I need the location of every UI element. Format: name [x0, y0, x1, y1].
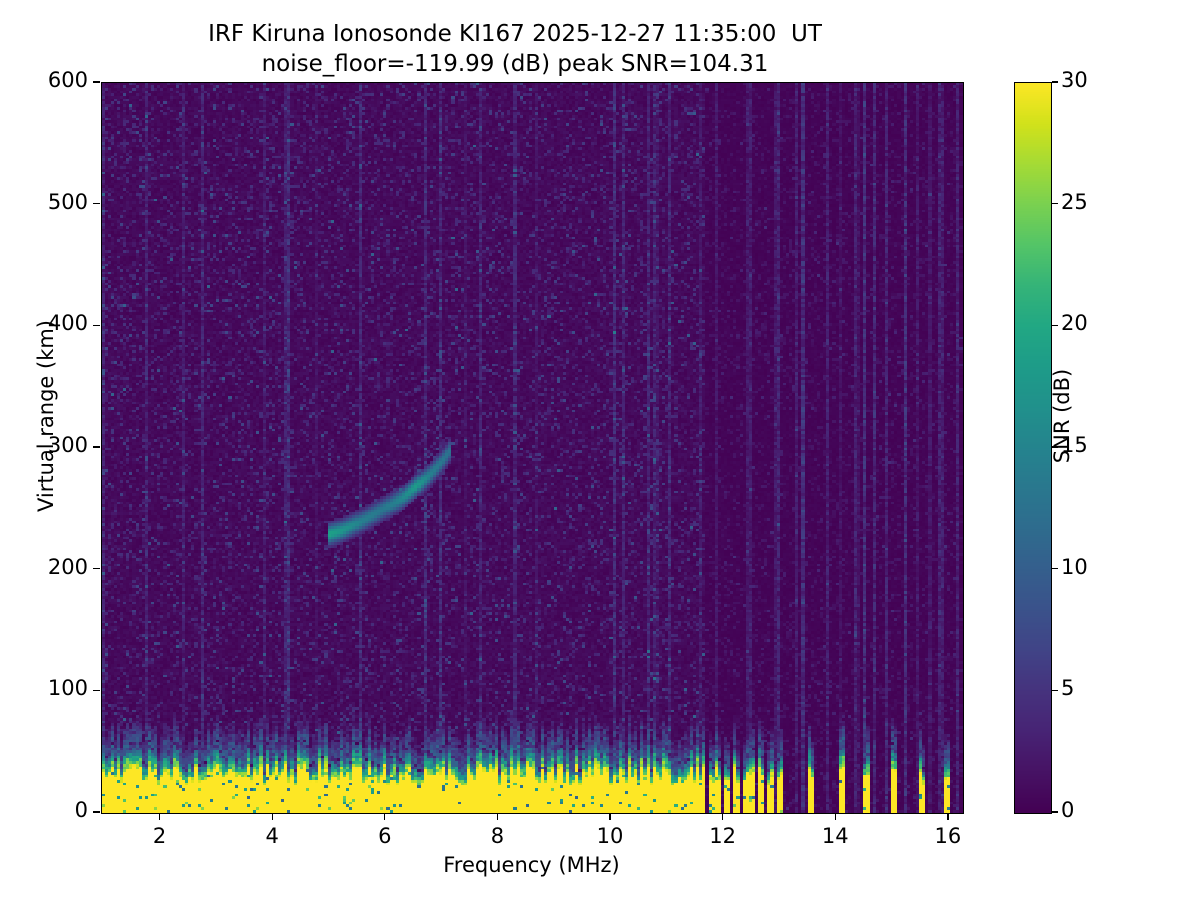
x-tick-label: 10 [580, 824, 640, 848]
colorbar-tick-label: 0 [1061, 798, 1074, 822]
x-tick-mark [272, 813, 273, 820]
ionogram-figure: IRF Kiruna Ionosonde KI167 2025-12-27 11… [0, 0, 1200, 900]
colorbar-label: SNR (dB) [1050, 186, 1074, 646]
y-axis-label: Virtual range (km) [34, 136, 58, 696]
x-axis-label: Frequency (MHz) [101, 853, 962, 877]
colorbar-tick-mark [1052, 81, 1058, 82]
y-tick-mark [93, 325, 100, 326]
x-tick-mark [497, 813, 498, 820]
x-tick-label: 2 [130, 824, 190, 848]
colorbar-tick-mark [1052, 811, 1058, 812]
x-tick-label: 6 [355, 824, 415, 848]
title-line-2: noise_floor=-119.99 (dB) peak SNR=104.31 [0, 50, 1030, 80]
x-tick-label: 12 [693, 824, 753, 848]
x-tick-label: 4 [242, 824, 302, 848]
y-tick-mark [93, 568, 100, 569]
colorbar-tick-label: 30 [1061, 68, 1088, 92]
y-tick-label: 600 [48, 68, 88, 92]
colorbar [1014, 82, 1052, 814]
y-tick-mark [93, 446, 100, 447]
plot-area [101, 82, 964, 814]
x-tick-label: 14 [805, 824, 865, 848]
title-line-1: IRF Kiruna Ionosonde KI167 2025-12-27 11… [0, 20, 1030, 50]
y-tick-mark [93, 203, 100, 204]
colorbar-gradient [1015, 83, 1051, 813]
figure-title: IRF Kiruna Ionosonde KI167 2025-12-27 11… [0, 20, 1030, 80]
colorbar-tick-label: 5 [1061, 676, 1074, 700]
x-tick-label: 16 [918, 824, 978, 848]
y-tick-mark [93, 81, 100, 82]
x-tick-mark [609, 813, 610, 820]
x-tick-mark [947, 813, 948, 820]
y-tick-label: 0 [75, 798, 88, 822]
x-tick-mark [722, 813, 723, 820]
x-tick-mark [384, 813, 385, 820]
colorbar-tick-mark [1052, 690, 1058, 691]
x-tick-label: 8 [467, 824, 527, 848]
x-tick-mark [159, 813, 160, 820]
y-tick-mark [93, 690, 100, 691]
y-tick-mark [93, 811, 100, 812]
x-tick-mark [835, 813, 836, 820]
ionogram-heatmap [102, 83, 963, 813]
